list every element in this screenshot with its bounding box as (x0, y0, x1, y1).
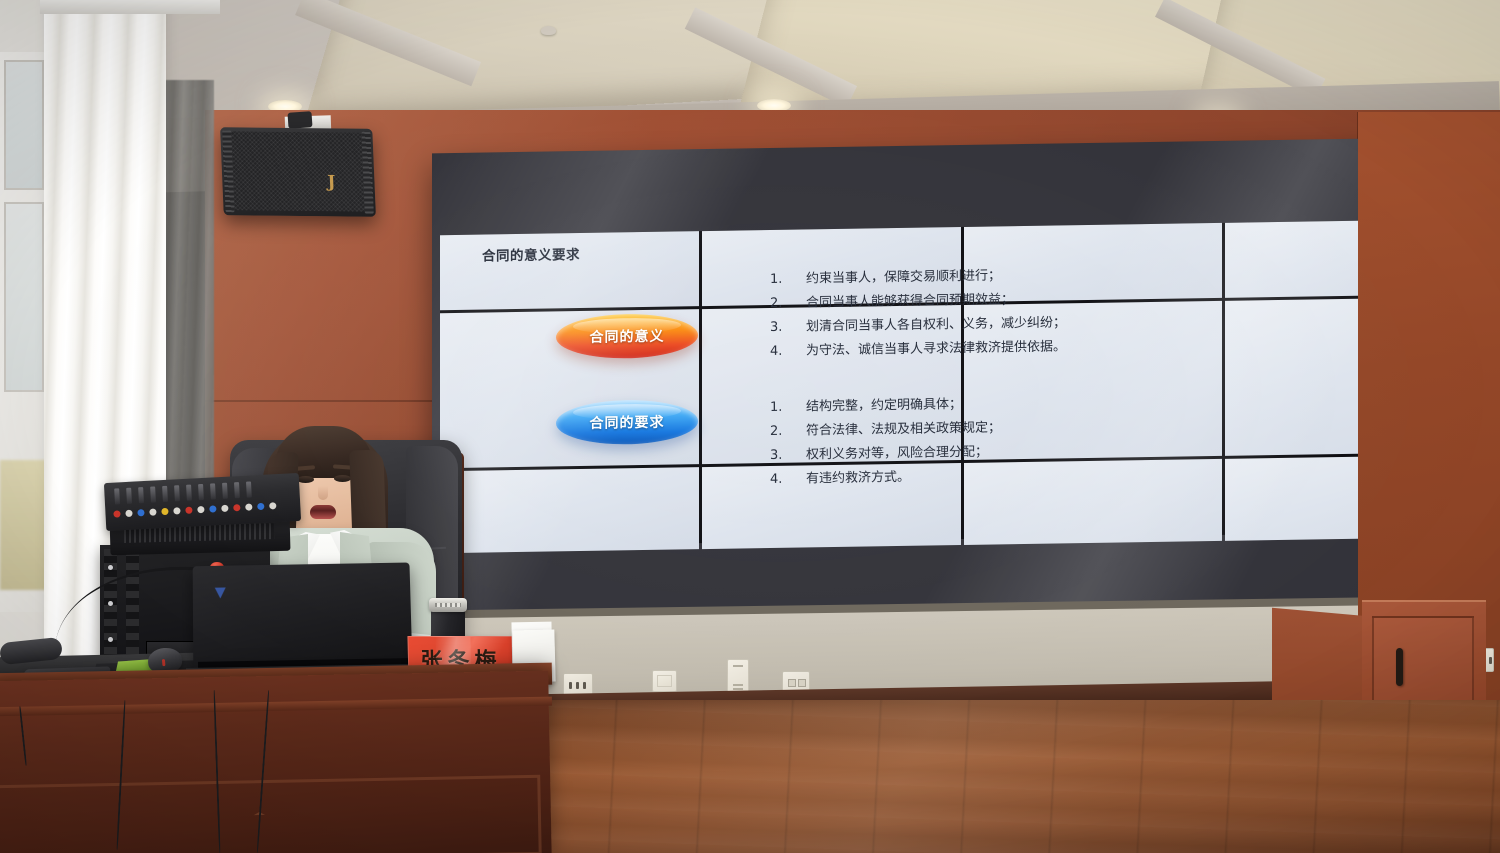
speaker-grille (230, 131, 365, 211)
video-wall-panel (964, 459, 1223, 545)
mixer-faders[interactable] (114, 481, 252, 504)
switch-rocker-icon (657, 675, 672, 687)
laptop-screen[interactable] (193, 562, 413, 674)
window-pane (4, 60, 44, 190)
window-sill-object (0, 460, 48, 590)
laptop-brand-logo-icon (215, 587, 226, 598)
cabinet-handle-icon[interactable] (1396, 648, 1403, 686)
light-switch[interactable] (652, 670, 677, 692)
video-wall-panel (702, 305, 961, 464)
person-eye-left (297, 476, 314, 483)
video-wall-display[interactable]: 合同的意义要求 合同的意义 合同的要求 1. 约束当事人，保障交易顺利进行； 2… (432, 137, 1492, 624)
audio-mixer-console[interactable] (104, 473, 301, 531)
wall-speaker: J (220, 127, 376, 217)
person-eye-right (334, 475, 351, 482)
smoke-detector-icon (541, 26, 556, 35)
video-wall-panel (440, 231, 699, 310)
thermos-lid[interactable] (429, 598, 467, 612)
speaker-mount (287, 111, 312, 129)
video-wall-panel (964, 301, 1223, 460)
floor-reflection (520, 700, 1500, 853)
conference-room-scene: J 合同的意义要求 合同的意义 合同的要求 1. 约束当事 (0, 0, 1500, 853)
rack-screw (108, 565, 113, 570)
video-wall-panel (702, 227, 961, 306)
video-wall-panel (440, 467, 699, 553)
video-wall-panel (964, 223, 1223, 302)
video-wall-panel (440, 309, 699, 468)
speaker-brand-logo: J (327, 172, 338, 192)
mixer-knobs[interactable] (113, 502, 276, 518)
person-mouth (310, 505, 336, 519)
outlet-slots-icon (569, 682, 589, 690)
person-nose (318, 486, 328, 500)
video-wall-panel (702, 463, 961, 549)
video-wall-panel-grid (440, 219, 1484, 547)
window-pane (4, 202, 44, 392)
curtain-rail (40, 0, 220, 14)
wall-control-panel[interactable] (727, 659, 749, 694)
